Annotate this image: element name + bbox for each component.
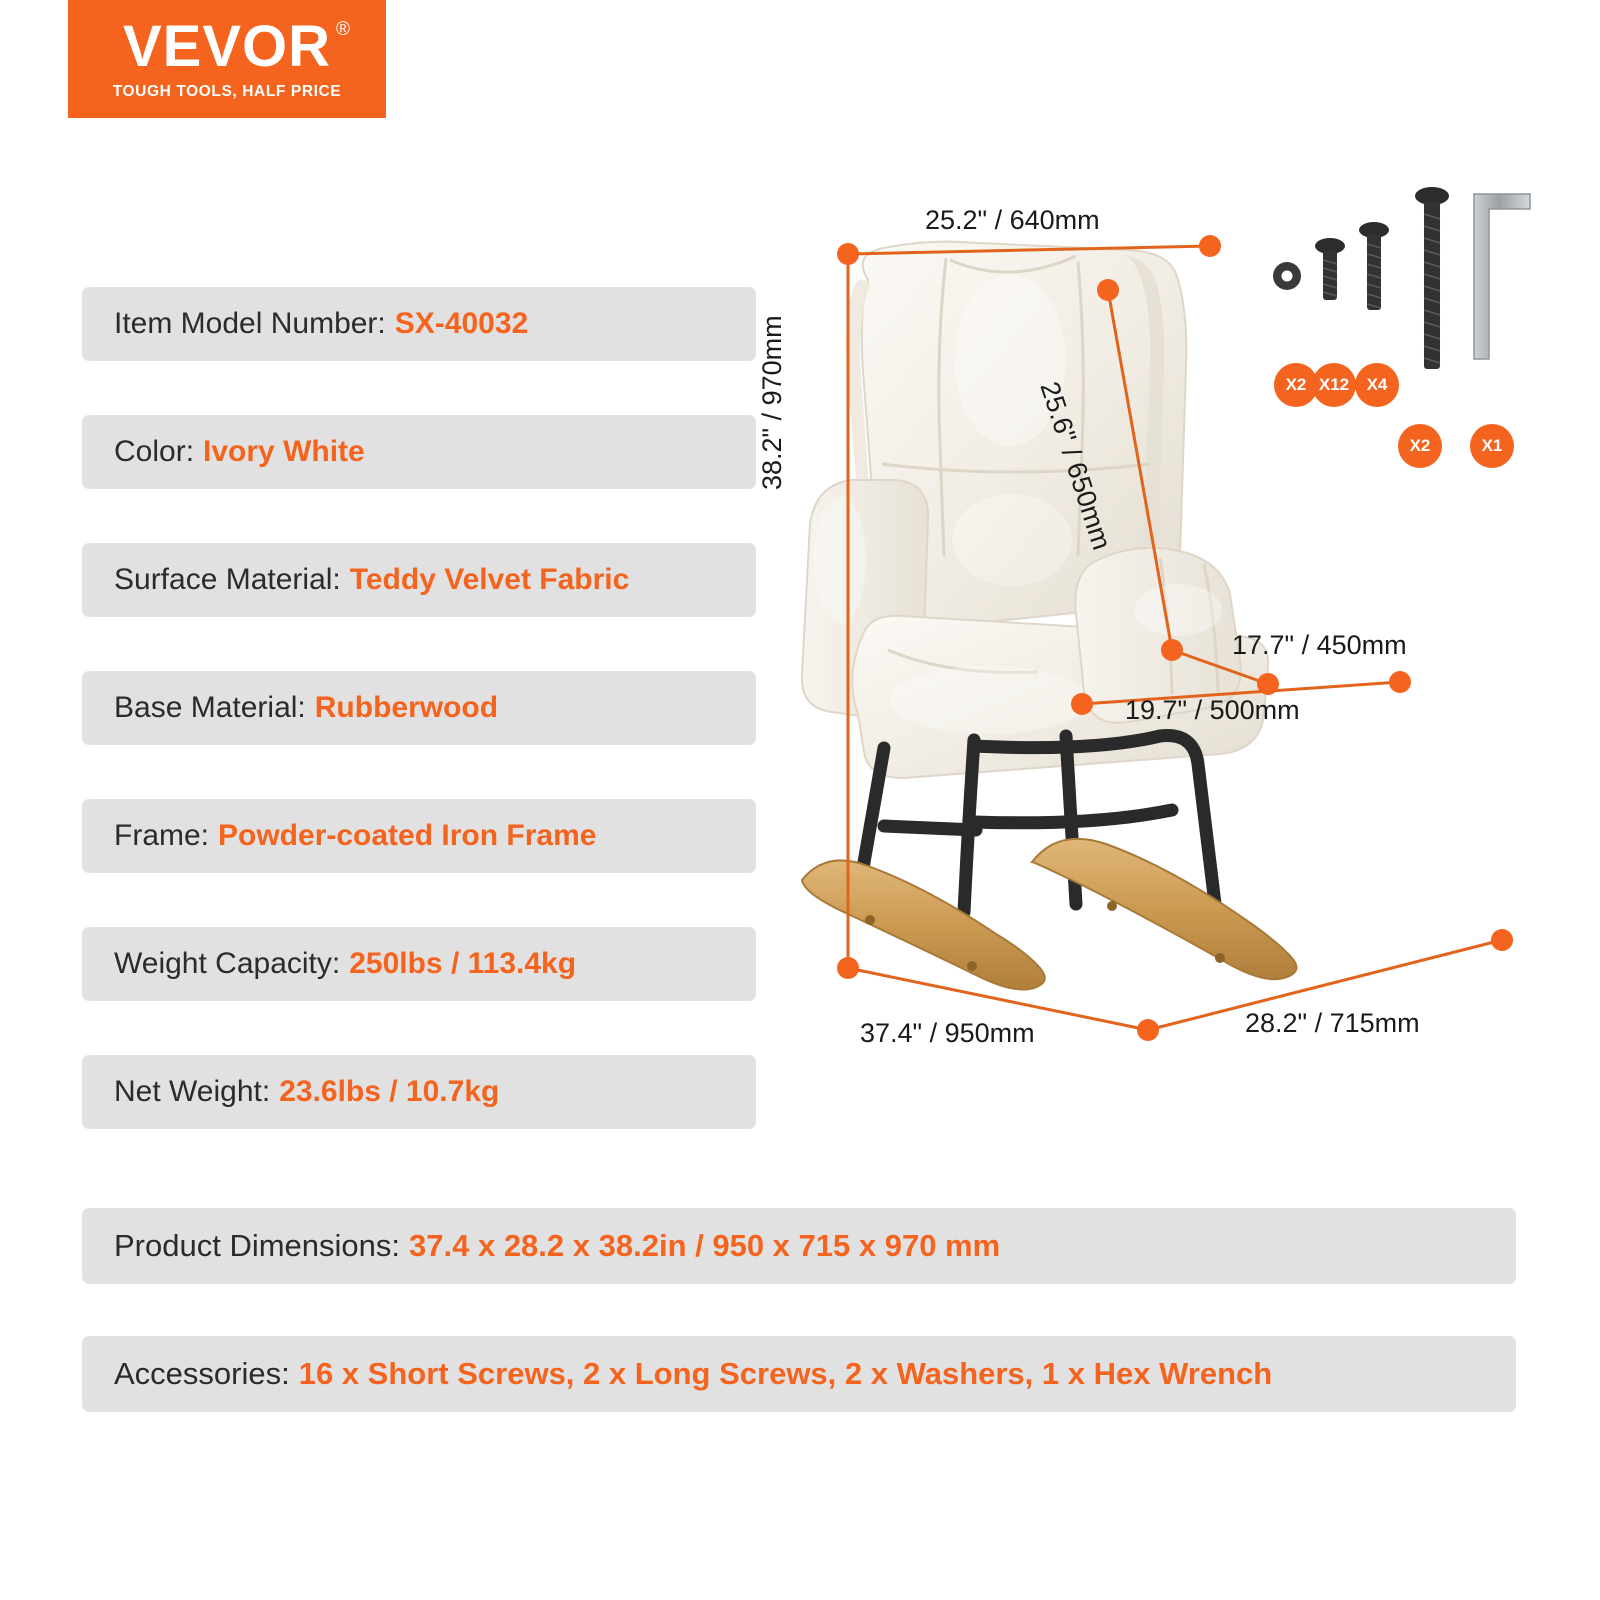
spec-row-frame: Frame: Powder-coated Iron Frame (82, 799, 756, 873)
spec-value: 23.6lbs / 10.7kg (279, 1075, 499, 1109)
spec-label: Net Weight: (114, 1075, 270, 1109)
registered-mark: ® (336, 20, 351, 39)
spec-label: Weight Capacity: (114, 947, 340, 981)
spec-label: Frame: (114, 819, 209, 853)
chair-wood-rockers (802, 839, 1297, 990)
hardware-washer (1273, 262, 1301, 290)
spec-label: Item Model Number: (114, 307, 386, 341)
spec-row-item-model-number: Item Model Number: SX-40032 (82, 287, 756, 361)
spec-row-surface-material: Surface Material: Teddy Velvet Fabric (82, 543, 756, 617)
brand-wordmark: VEVOR ® (123, 18, 331, 76)
spec-value: Rubberwood (315, 691, 498, 725)
brand-tagline: TOUGH TOOLS, HALF PRICE (113, 83, 342, 101)
hardware-short-screw (1315, 238, 1345, 300)
spec-label: Surface Material: (114, 563, 341, 597)
spec-value: 37.4 x 28.2 x 38.2in / 950 x 715 x 970 m… (409, 1228, 1000, 1264)
spec-value: 250lbs / 113.4kg (349, 947, 576, 981)
dimension-label-overall-depth: 28.2" / 715mm (1245, 1008, 1420, 1039)
spec-value: Powder-coated Iron Frame (218, 819, 596, 853)
spec-row-net-weight: Net Weight: 23.6lbs / 10.7kg (82, 1055, 756, 1129)
hardware-long-screw (1415, 187, 1449, 369)
spec-value: Ivory White (203, 435, 365, 469)
spec-row-product-dimensions: Product Dimensions: 37.4 x 28.2 x 38.2in… (82, 1208, 1516, 1284)
product-illustration (760, 180, 1560, 1080)
badge-long-screw-qty: X2 (1398, 424, 1442, 468)
badge-hex-wrench-qty: X1 (1470, 424, 1514, 468)
dimension-label-seat-depth: 17.7" / 450mm (1232, 630, 1407, 661)
badge-medium-screw-qty: X4 (1355, 363, 1399, 407)
brand-name: VEVOR (123, 14, 331, 79)
badge-short-screw-qty: X12 (1312, 363, 1356, 407)
spec-row-accessories: Accessories: 16 x Short Screws, 2 x Long… (82, 1336, 1516, 1412)
dimension-label-overall-length: 37.4" / 950mm (860, 1018, 1035, 1049)
spec-label: Accessories: (114, 1356, 290, 1392)
spec-row-weight-capacity: Weight Capacity: 250lbs / 113.4kg (82, 927, 756, 1001)
spec-label: Color: (114, 435, 194, 469)
dimension-label-seat-width: 19.7" / 500mm (1125, 695, 1300, 726)
spec-label: Base Material: (114, 691, 306, 725)
vevor-logo: VEVOR ® TOUGH TOOLS, HALF PRICE (68, 0, 386, 118)
spec-value: Teddy Velvet Fabric (350, 563, 630, 597)
spec-label: Product Dimensions: (114, 1228, 400, 1264)
spec-row-color: Color: Ivory White (82, 415, 756, 489)
dimension-label-width-top: 25.2" / 640mm (925, 205, 1100, 236)
dimension-label-overall-height: 38.2" / 970mm (757, 315, 788, 490)
spec-value: SX-40032 (395, 307, 528, 341)
spec-row-base-material: Base Material: Rubberwood (82, 671, 756, 745)
hardware-medium-screw (1359, 222, 1389, 310)
hardware-hex-wrench (1474, 194, 1530, 359)
spec-value: 16 x Short Screws, 2 x Long Screws, 2 x … (299, 1356, 1272, 1392)
